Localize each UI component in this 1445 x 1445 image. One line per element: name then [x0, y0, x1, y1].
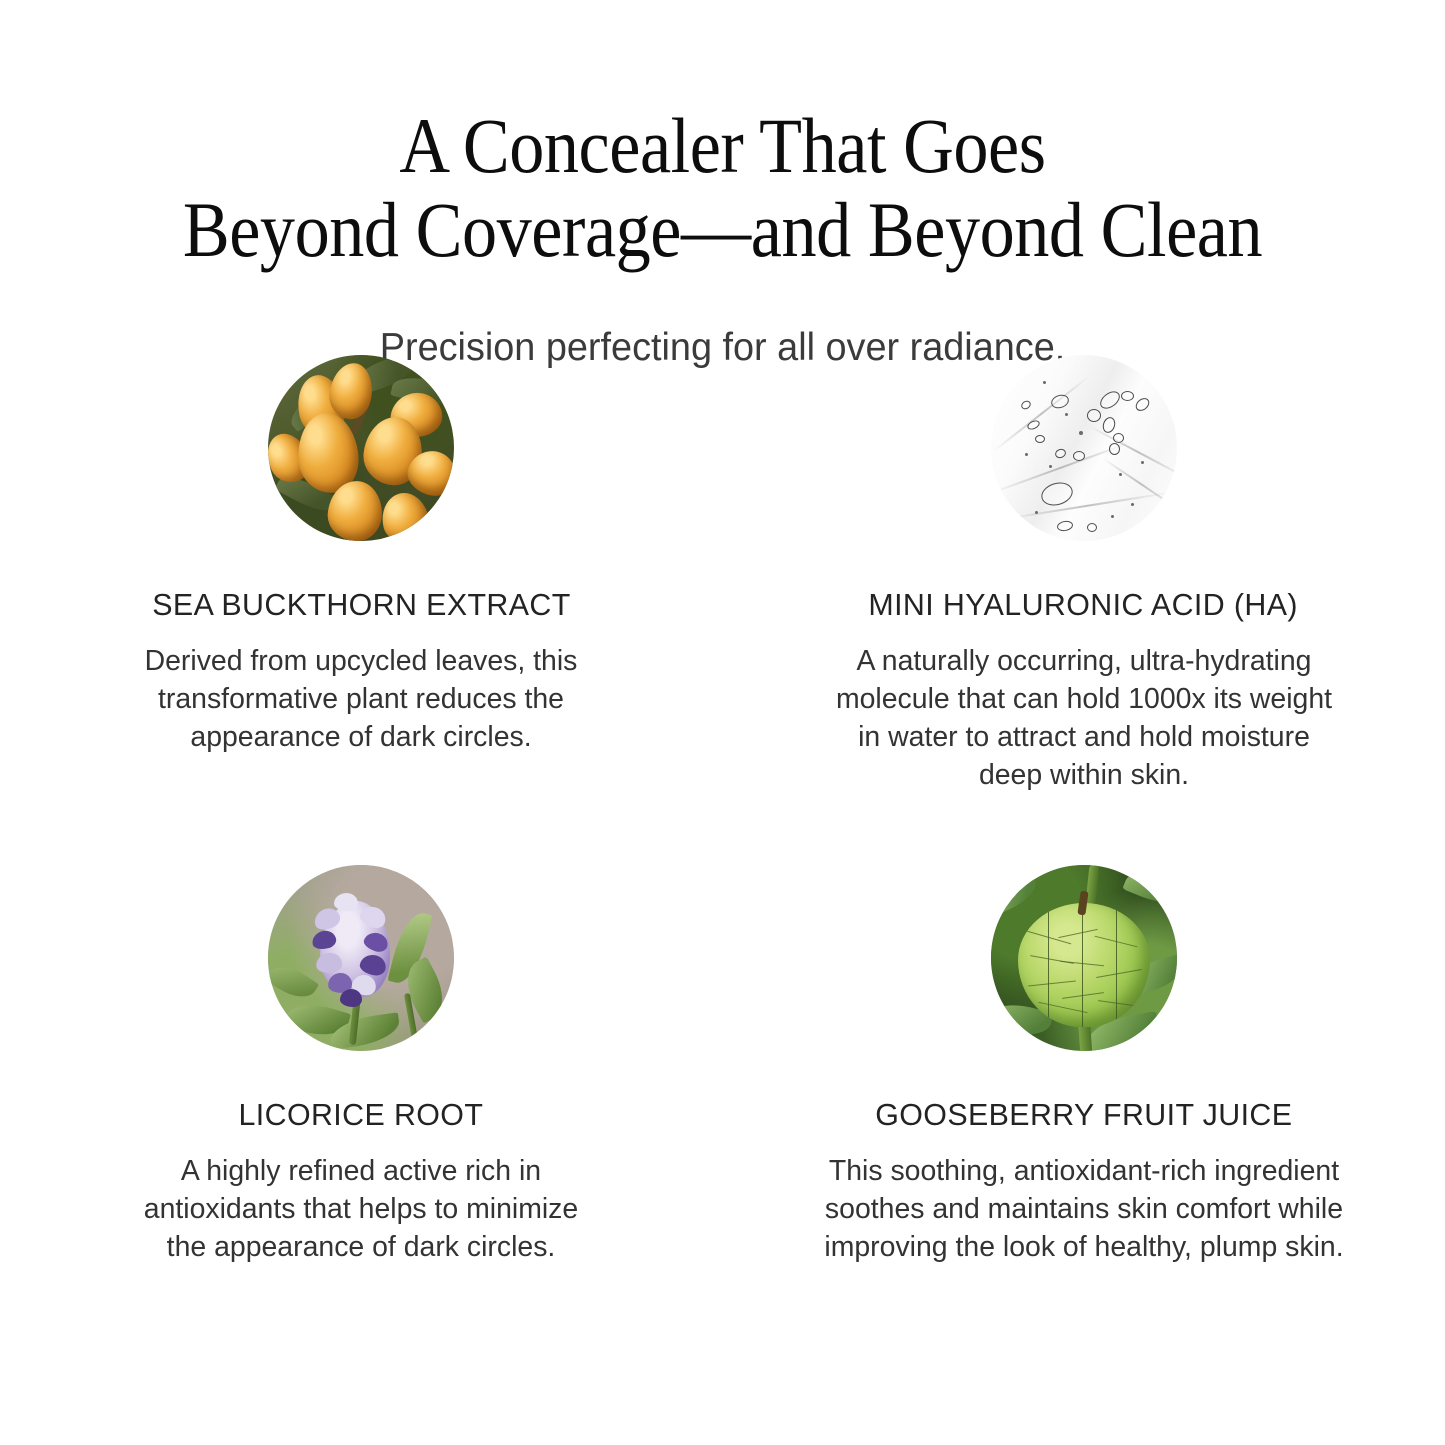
ingredient-card-licorice-root: LICORICE ROOT A highly refined active ri… — [0, 865, 722, 1375]
page-title-line-1: A Concealer That Goes — [72, 104, 1373, 188]
header-section: A Concealer That Goes Beyond Coverage—an… — [0, 0, 1445, 371]
licorice-root-flower-photo — [268, 865, 454, 1051]
ingredient-title: SEA BUCKTHORN EXTRACT — [152, 587, 570, 623]
sea-buckthorn-berries-photo — [268, 355, 454, 541]
ingredient-description: A naturally occurring, ultra-hydrating m… — [824, 642, 1343, 794]
ingredient-title: MINI HYALURONIC ACID (HA) — [869, 587, 1299, 623]
ingredient-grid: SEA BUCKTHORN EXTRACT Derived from upcyc… — [0, 355, 1445, 1375]
page-title-line-2: Beyond Coverage—and Beyond Clean — [72, 188, 1373, 272]
ingredient-card-sea-buckthorn: SEA BUCKTHORN EXTRACT Derived from upcyc… — [0, 355, 722, 865]
hyaluronic-acid-gel-texture-photo — [991, 355, 1177, 541]
ingredient-description: Derived from upcycled leaves, this trans… — [131, 642, 592, 756]
ingredient-description: This soothing, antioxidant-rich ingredie… — [824, 1152, 1343, 1266]
ingredient-title: GOOSEBERRY FRUIT JUICE — [875, 1097, 1292, 1133]
ingredient-card-gooseberry: GOOSEBERRY FRUIT JUICE This soothing, an… — [722, 865, 1445, 1375]
ingredient-benefits-infographic: A Concealer That Goes Beyond Coverage—an… — [0, 0, 1445, 1445]
ingredient-title: LICORICE ROOT — [239, 1097, 484, 1133]
gooseberry-fruit-photo — [991, 865, 1177, 1051]
ingredient-description: A highly refined active rich in antioxid… — [131, 1152, 592, 1266]
gooseberry-husk — [1018, 903, 1150, 1027]
ingredient-card-hyaluronic-acid: MINI HYALURONIC ACID (HA) A naturally oc… — [722, 355, 1445, 865]
page-title: A Concealer That Goes Beyond Coverage—an… — [72, 104, 1373, 272]
